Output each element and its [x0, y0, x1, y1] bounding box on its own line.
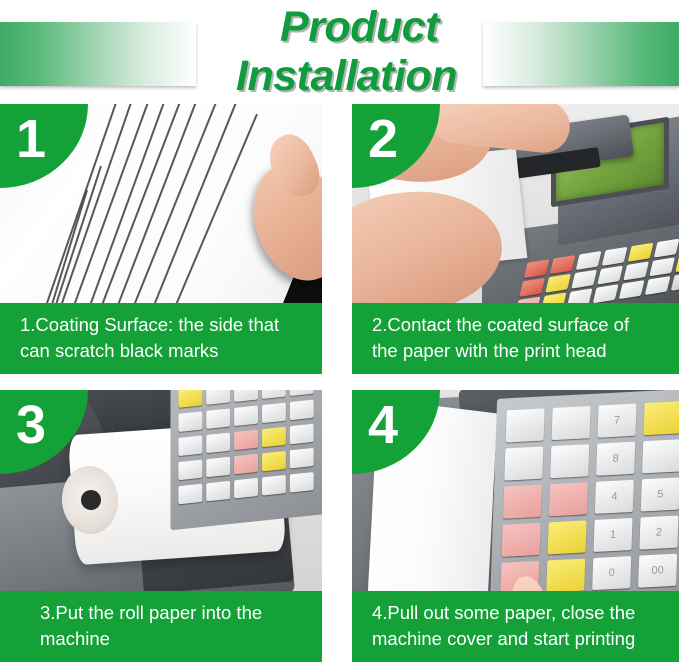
key-white[interactable]: [506, 408, 545, 442]
key-pink[interactable]: [234, 454, 258, 475]
key-grey[interactable]: [671, 272, 679, 291]
key-label: 0: [592, 556, 631, 590]
key-pink[interactable]: [502, 523, 541, 557]
key-white[interactable]: [178, 484, 202, 505]
caption-step-3: 3.Put the roll paper into the machine: [0, 591, 322, 662]
key-label: 2: [639, 516, 678, 550]
key-white[interactable]: [262, 403, 286, 424]
key-white[interactable]: [649, 257, 675, 276]
key-yellow[interactable]: [546, 558, 585, 592]
page-title-line-2: Installation: [0, 52, 679, 101]
step-number-2: 2: [368, 109, 398, 169]
key-white[interactable]: [206, 481, 230, 502]
key-white[interactable]: [550, 444, 589, 478]
instruction-panel-3: 3 3.Put the roll paper into the machine: [0, 390, 322, 662]
page-title: Product Installation: [0, 0, 679, 101]
key-label: 7: [597, 404, 636, 438]
caption-line-1: 3.Put the roll paper into the: [40, 600, 312, 626]
key-white[interactable]: [290, 400, 314, 421]
key-label: 1: [593, 518, 632, 552]
key-yellow[interactable]: [262, 427, 286, 448]
key-label: 8: [596, 442, 635, 476]
key-white[interactable]: [623, 261, 649, 280]
key-white[interactable]: [178, 411, 202, 432]
key-label: 5: [641, 477, 679, 511]
instruction-panel-1: 1 1.Coating Surface: the side that can s…: [0, 104, 322, 374]
caption-step-4: 4.Pull out some paper, close the machine…: [352, 591, 679, 662]
header-banner: Product Installation: [0, 0, 679, 104]
key-yellow[interactable]: [545, 274, 571, 293]
key-yellow[interactable]: [548, 520, 587, 554]
key-white[interactable]: [178, 435, 202, 456]
caption-line-2: machine: [40, 626, 312, 652]
step-number-4: 4: [368, 395, 398, 455]
key-yellow[interactable]: [628, 243, 654, 262]
key-yellow[interactable]: [643, 401, 679, 435]
key-white[interactable]: [234, 478, 258, 499]
key-white[interactable]: [206, 433, 230, 454]
step-number-1: 1: [16, 109, 46, 169]
key-white[interactable]: [571, 270, 597, 289]
key-white[interactable]: 7: [597, 404, 636, 438]
key-pink[interactable]: [234, 430, 258, 451]
key-white[interactable]: [645, 276, 671, 295]
key-white[interactable]: [290, 472, 314, 493]
keypad: [170, 390, 322, 530]
key-white[interactable]: 1: [593, 518, 632, 552]
key-label: 4: [595, 480, 634, 514]
key-red[interactable]: [550, 255, 576, 274]
key-white[interactable]: [206, 408, 230, 429]
key-yellow[interactable]: [675, 253, 679, 272]
caption-line-1: 1.Coating Surface: the side that: [20, 312, 312, 338]
instruction-panel-grid: 1 1.Coating Surface: the side that can s…: [0, 104, 679, 662]
step-number-3: 3: [16, 395, 46, 455]
instruction-panel-2: 2 2.Contact the coated surface of the pa…: [352, 104, 679, 374]
key-white[interactable]: 2: [639, 516, 678, 550]
page-title-line-1: Product: [0, 3, 679, 52]
key-white[interactable]: [504, 447, 543, 481]
key-red[interactable]: [524, 259, 550, 278]
instruction-panel-4: 7 8 4 5 1 2 0 00: [352, 390, 679, 662]
key-white[interactable]: [234, 405, 258, 426]
key-yellow[interactable]: [262, 451, 286, 472]
key-white[interactable]: 8: [596, 442, 635, 476]
key-white[interactable]: [593, 284, 619, 303]
key-white[interactable]: 0: [592, 556, 631, 590]
key-white[interactable]: 5: [641, 477, 679, 511]
caption-line-1: 2.Contact the coated surface of: [372, 312, 669, 338]
key-pink[interactable]: [503, 485, 542, 519]
key-pink[interactable]: [549, 482, 588, 516]
caption-line-2: the paper with the print head: [372, 338, 669, 364]
key-white[interactable]: [262, 475, 286, 496]
caption-step-1: 1.Coating Surface: the side that can scr…: [0, 303, 322, 374]
key-white[interactable]: [597, 266, 623, 285]
key-white[interactable]: 00: [638, 554, 677, 588]
caption-line-1: 4.Pull out some paper, close the: [372, 600, 669, 626]
key-white[interactable]: [206, 390, 230, 405]
key-white[interactable]: 4: [595, 480, 634, 514]
key-white[interactable]: [290, 424, 314, 445]
paper-roll-core: [81, 490, 101, 510]
key-white[interactable]: [552, 406, 591, 440]
key-yellow[interactable]: [178, 390, 202, 408]
key-white[interactable]: [576, 251, 602, 270]
caption-line-2: can scratch black marks: [20, 338, 312, 364]
key-white[interactable]: [290, 448, 314, 469]
key-white[interactable]: [602, 247, 628, 266]
key-label: 00: [638, 554, 677, 588]
key-white[interactable]: [642, 439, 679, 473]
key-white[interactable]: [619, 280, 645, 299]
key-white[interactable]: [178, 460, 202, 481]
key-red[interactable]: [519, 278, 545, 297]
key-white[interactable]: [206, 457, 230, 478]
caption-line-2: machine cover and start printing: [372, 626, 669, 652]
caption-step-2: 2.Contact the coated surface of the pape…: [352, 303, 679, 374]
key-white[interactable]: [654, 239, 679, 258]
